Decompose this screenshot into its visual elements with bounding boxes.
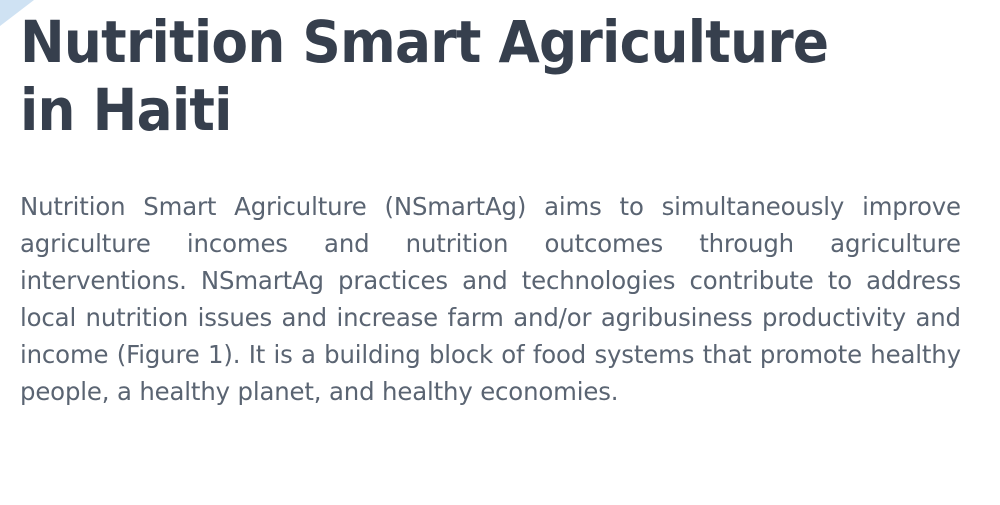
document-page: Nutrition Smart Agriculture in Haiti Nut… [0,0,1000,505]
document-content: Nutrition Smart Agriculture in Haiti Nut… [20,0,985,410]
body-paragraph: Nutrition Smart Agriculture (NSmartAg) a… [20,144,961,410]
page-title: Nutrition Smart Agriculture in Haiti [20,0,908,144]
